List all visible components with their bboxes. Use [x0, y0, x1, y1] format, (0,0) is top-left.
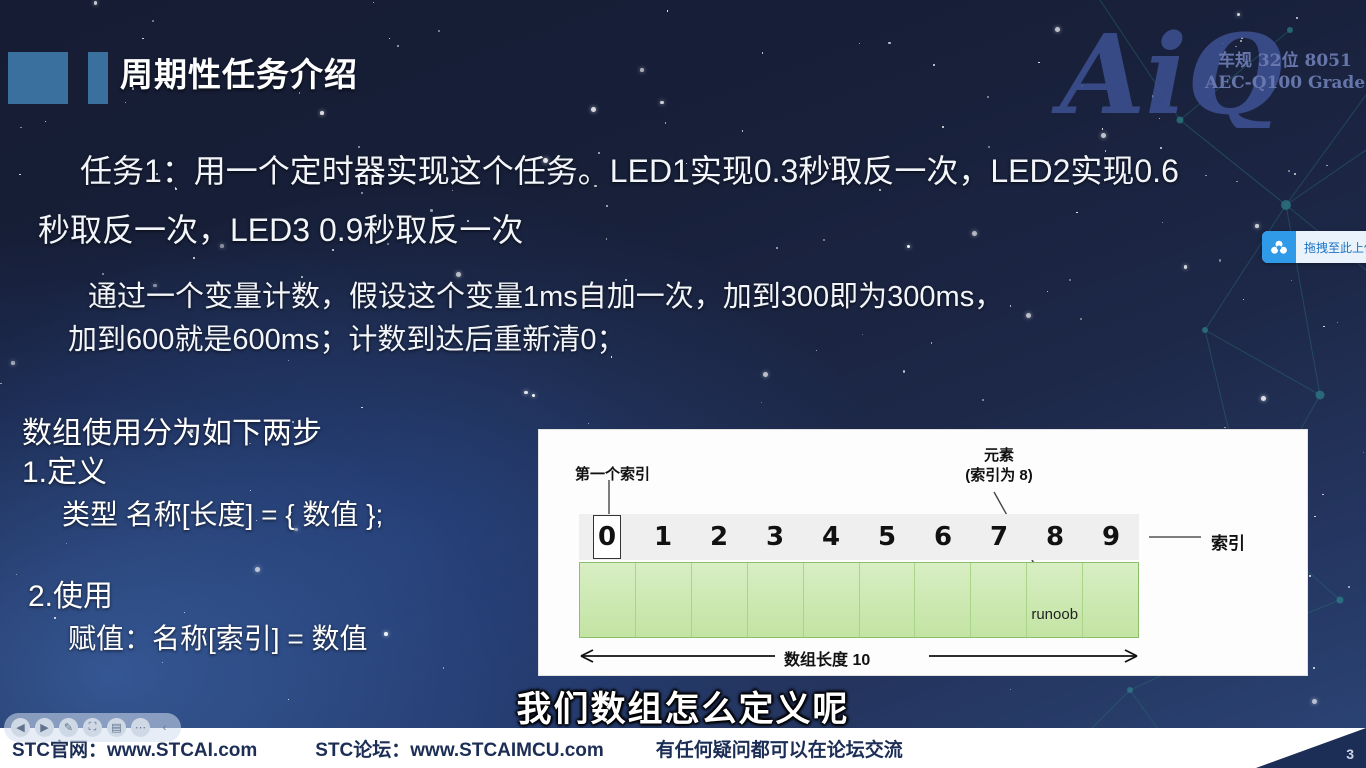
index-cell-2: 2: [691, 514, 747, 560]
label-first-index: 第一个索引: [575, 463, 650, 484]
index-cell-8: 8: [1027, 514, 1083, 560]
page-title: 周期性任务介绍: [120, 48, 358, 96]
counter-paragraph-line-2: 加到600就是600ms；计数到达后重新清0；: [68, 326, 626, 355]
label-element-index: (索引为 8): [934, 464, 1064, 485]
step-2-detail: 赋值：名称[索引] = 数值: [22, 617, 383, 661]
steps-heading: 数组使用分为如下两步: [22, 415, 383, 453]
array-cell-8-value: runoob: [1031, 606, 1078, 623]
array-cell-3: [748, 563, 804, 637]
counter-paragraph-line-1: 通过一个变量计数，假设这个变量1ms自加一次，加到300即为300ms，: [88, 283, 1003, 312]
pen-icon[interactable]: ✎: [59, 718, 78, 737]
task-paragraph-line-1: 任务1：用一个定时器实现这个任务。LED1实现0.3秒取反一次，LED2实现0.…: [80, 155, 1179, 187]
title-accent-block-wide: [8, 52, 68, 104]
array-cell-7: [971, 563, 1027, 637]
player-toolbar[interactable]: ◀ ▶ ✎ ⛶ ▤ ⋯ ‹: [4, 713, 181, 742]
cloud-upload-icon: [1262, 231, 1296, 263]
title-accent-block-narrow: [88, 52, 108, 104]
screenshot-icon[interactable]: ⛶: [83, 718, 102, 737]
array-cell-9: [1083, 563, 1138, 637]
array-cell-0: [580, 563, 636, 637]
footer-bar: STC官网：www.STCAI.com STC论坛：www.STCAIMCU.c…: [0, 728, 1366, 768]
label-array-length: 数组长度 10: [784, 646, 870, 670]
array-cell-1: [636, 563, 692, 637]
index-cell-1: 1: [635, 514, 691, 560]
array-cell-8: runoob: [1027, 563, 1083, 637]
previous-icon[interactable]: ◀: [11, 718, 30, 737]
step-1-detail: 类型 名称[长度] = { 数值 };: [22, 493, 383, 537]
page-number: 3: [1346, 746, 1354, 762]
array-cell-row: runoob: [579, 562, 1139, 638]
array-cell-2: [692, 563, 748, 637]
index-cell-5: 5: [859, 514, 915, 560]
index-cell-3: 3: [747, 514, 803, 560]
footer-forum: STC论坛：www.STCAIMCU.com: [315, 735, 604, 762]
index-cell-0-value: 0: [593, 515, 621, 559]
array-cell-6: [915, 563, 971, 637]
drag-to-upload-badge[interactable]: 拖拽至此上传: [1262, 231, 1366, 263]
step-2-title: 2.使用: [22, 577, 383, 617]
collapse-icon[interactable]: ‹: [155, 718, 174, 737]
array-cell-5: [860, 563, 916, 637]
label-index-axis: 索引: [1211, 529, 1245, 554]
step-1-title: 1.定义: [22, 453, 383, 493]
index-cell-9: 9: [1083, 514, 1139, 560]
array-index-row: 0 1 2 3 4 5 6 7 8 9: [579, 514, 1139, 560]
array-cell-4: [804, 563, 860, 637]
footer-note: 有任何疑问都可以在论坛交流: [656, 735, 903, 762]
index-cell-4: 4: [803, 514, 859, 560]
index-cell-6: 6: [915, 514, 971, 560]
index-cell-0: 0: [579, 514, 635, 560]
array-structure-diagram: 第一个索引 元素 (索引为 8) 索引 数组长度 10 0 1 2 3 4 5 …: [538, 429, 1308, 676]
array-usage-steps: 数组使用分为如下两步 1.定义 类型 名称[长度] = { 数值 }; 2.使用…: [22, 415, 383, 661]
task-paragraph-line-2: 秒取反一次，LED3 0.9秒取反一次: [38, 214, 523, 246]
slide-title-bar: 周期性任务介绍: [0, 52, 1366, 106]
record-video-icon[interactable]: ▤: [107, 718, 126, 737]
more-options-icon[interactable]: ⋯: [131, 718, 150, 737]
label-element: 元素: [939, 444, 1059, 465]
drag-to-upload-label: 拖拽至此上传: [1296, 239, 1366, 256]
video-caption: 我们数组怎么定义呢: [0, 681, 1366, 732]
index-cell-7: 7: [971, 514, 1027, 560]
play-icon[interactable]: ▶: [35, 718, 54, 737]
presentation-slide: AiQ 车规 32位 8051 AEC-Q100 Grade1 周期性任务介绍 …: [0, 0, 1366, 768]
